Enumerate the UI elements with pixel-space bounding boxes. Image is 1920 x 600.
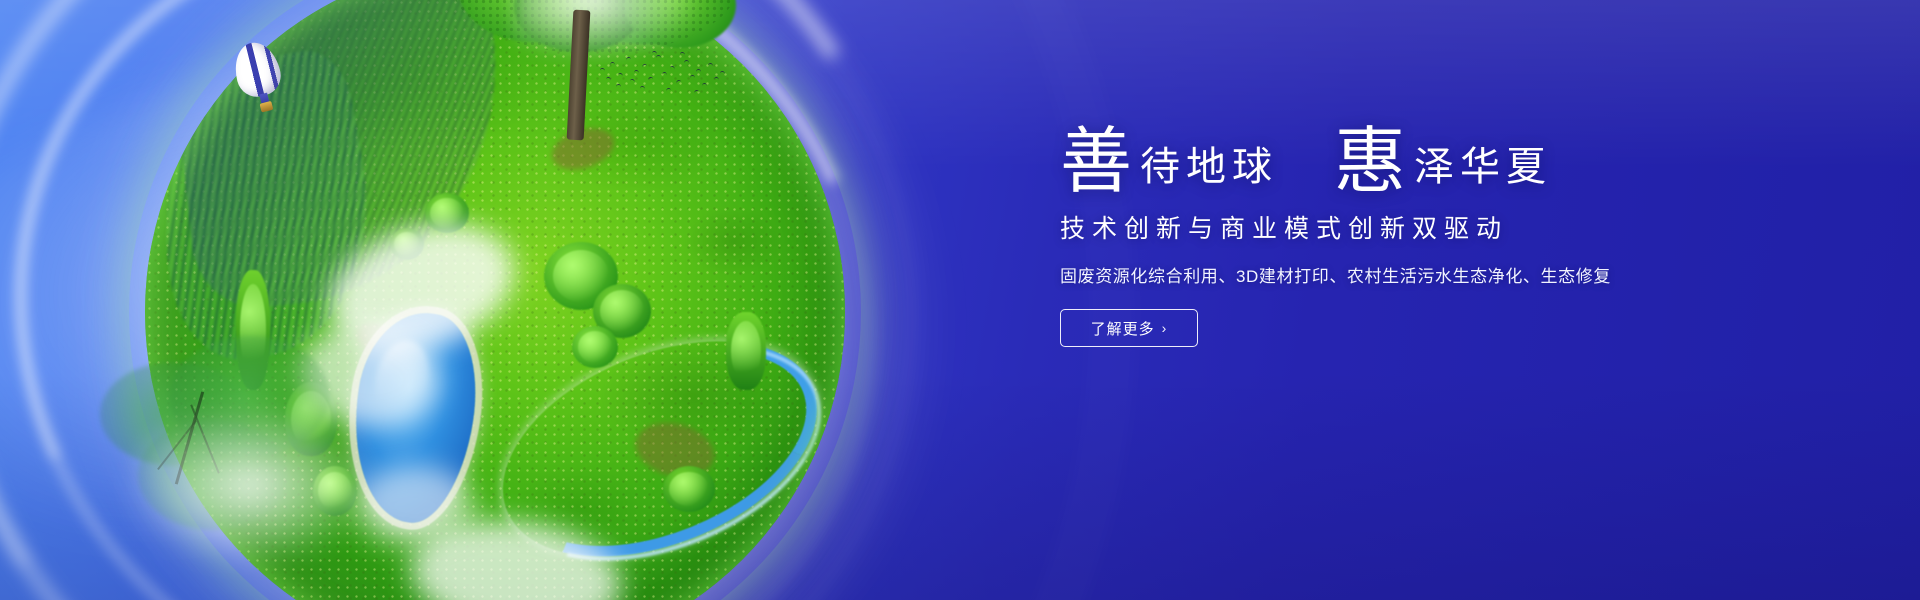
bird-icon: [642, 63, 648, 67]
hero-copy-block: 善 待地球 惠 泽华夏 技术创新与商业模式创新双驱动 固废资源化综合利用、3D建…: [1060, 128, 1760, 347]
bird-icon: [714, 77, 719, 81]
hero-banner: 善 待地球 惠 泽华夏 技术创新与商业模式创新双驱动 固废资源化综合利用、3D建…: [0, 0, 1920, 600]
bird-icon: [652, 51, 658, 55]
bird-icon: [702, 83, 707, 86]
bird-icon: [630, 78, 636, 82]
bird-icon: [670, 65, 676, 69]
headline-part-2-rest: 泽华夏: [1406, 147, 1552, 197]
bird-flock-icon: [596, 46, 726, 98]
bird-icon: [648, 76, 654, 80]
bird-icon: [708, 63, 713, 66]
hero-subtitle: 技术创新与商业模式创新双驱动: [1060, 209, 1760, 245]
bird-icon: [626, 57, 631, 61]
bird-icon: [656, 55, 661, 58]
headline-part-1-rest: 待地球: [1132, 147, 1278, 197]
bird-icon: [684, 60, 689, 63]
bird-icon: [616, 84, 621, 87]
foreground-mist: [120, 400, 380, 570]
bird-icon: [696, 69, 701, 72]
tree-clump: [663, 466, 715, 512]
hero-description: 固废资源化综合利用、3D建材打印、农村生活污水生态净化、生态修复: [1060, 262, 1760, 287]
bird-icon: [676, 79, 682, 84]
page-title: 善 待地球 惠 泽华夏: [1060, 128, 1760, 197]
bird-icon: [694, 89, 700, 93]
balloon-basket: [260, 101, 274, 113]
bird-icon: [690, 75, 695, 78]
bird-icon: [634, 70, 639, 74]
bird-icon: [680, 52, 685, 56]
bird-icon: [720, 71, 725, 75]
bird-icon: [666, 88, 671, 92]
bird-icon: [600, 68, 605, 72]
bird-icon: [640, 86, 645, 90]
chevron-right-icon: ›: [1162, 321, 1168, 335]
tree-clump: [572, 326, 618, 368]
bird-icon: [662, 72, 667, 75]
learn-more-button[interactable]: 了解更多 ›: [1060, 309, 1198, 347]
headline-part-2-emphasis: 惠: [1334, 128, 1406, 197]
learn-more-label: 了解更多: [1091, 318, 1155, 339]
bird-icon: [610, 62, 615, 65]
bird-icon: [606, 77, 611, 81]
bird-icon: [618, 72, 624, 76]
headline-part-1-emphasis: 善: [1060, 128, 1132, 197]
tree-clump: [726, 312, 766, 390]
